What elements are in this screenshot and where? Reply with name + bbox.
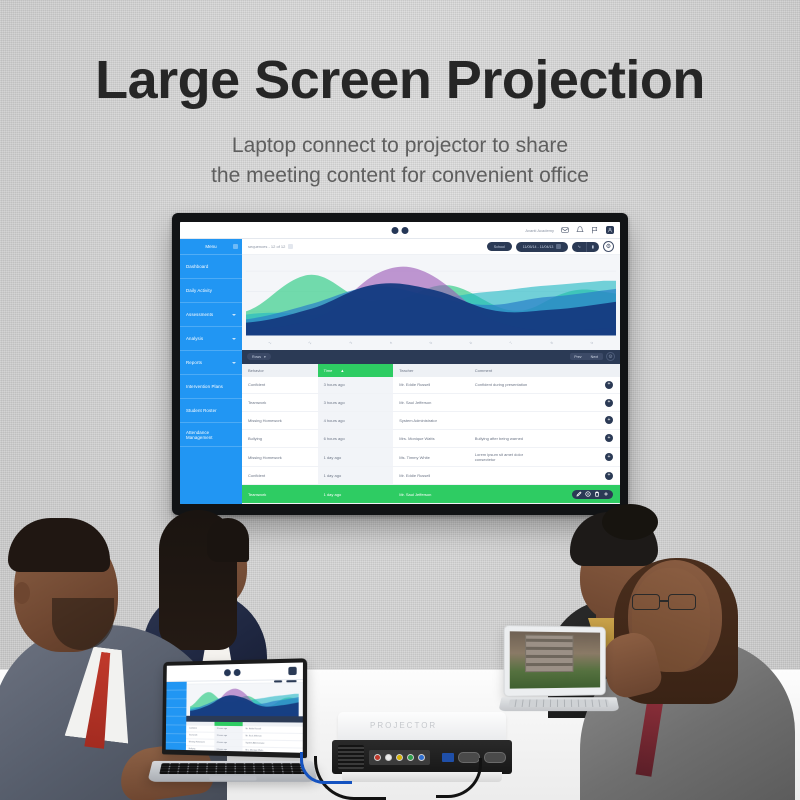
sidebar-header: Menu [180, 239, 242, 255]
cell-behavior: Teamwork [242, 394, 318, 412]
cell-actions: + [544, 394, 620, 412]
user-icon[interactable] [606, 226, 614, 234]
cell-actions: + [544, 377, 620, 394]
table-row[interactable]: Confident 1 day ago Mr. Eddie Russell + [242, 467, 620, 485]
cell-teacher: Mrs. Monique Watts [242, 747, 272, 753]
table-row[interactable]: Bullying 6 hours ago Mrs. Monique Watts … [242, 429, 620, 447]
cell-teacher: Mr. Eddie Russell [393, 467, 469, 485]
dashboard-body: Menu Dashboard Daily Activity Assessment… [180, 239, 620, 504]
table-row-selected[interactable]: Teamwork 1 day ago Mr. Saul Jefferson [242, 485, 620, 504]
lens-right [668, 594, 696, 610]
column-header-behavior[interactable]: Behavior [242, 364, 318, 377]
chevron-down-icon [232, 362, 236, 364]
sidebar-item [166, 708, 186, 717]
table-body: Confident3 hours agoMr. Eddie Russell Te… [186, 726, 303, 753]
date-range-picker[interactable]: 11/05/14 - 11/04/13 [516, 242, 569, 252]
laptop-base [147, 761, 317, 782]
x-tick-label: 8 [549, 341, 553, 345]
cell-teacher: Mr. Saul Jefferson [393, 485, 469, 504]
close-icon[interactable] [288, 244, 293, 249]
x-tick-label: 4 [389, 341, 393, 345]
building-photo [525, 635, 574, 673]
sidebar-item [166, 717, 186, 726]
cell-behavior: Confident [242, 467, 318, 485]
cell-behavior: Missing Homework [242, 447, 318, 467]
sidebar-item-dashboard[interactable]: Dashboard [180, 255, 242, 279]
cell-time: 4 hours ago [318, 412, 394, 430]
rca-white-port[interactable] [385, 754, 392, 761]
gear-icon[interactable]: ⚙ [606, 352, 615, 361]
cell-actions: + [544, 412, 620, 430]
laptop-lid [504, 625, 606, 697]
laptop-left: Confident3 hours agoMr. Eddie Russell Te… [150, 660, 315, 788]
app-topbar: Avanti Academy [180, 222, 620, 239]
cell-behavior: Missing Homework [242, 412, 318, 430]
cell-teacher: Mr. Saul Jefferson [393, 394, 469, 412]
dashboard-body: Confident3 hours agoMr. Eddie Russell Te… [166, 680, 303, 753]
dashboard-mirror: Confident3 hours agoMr. Eddie Russell Te… [166, 662, 303, 752]
trackpad[interactable] [209, 776, 256, 781]
cell-teacher: Ms. Timmy White [393, 447, 469, 467]
next-page-button[interactable]: Next [587, 353, 603, 360]
plus-circle-icon[interactable]: + [605, 453, 613, 461]
gear-icon[interactable]: ⚙ [603, 241, 614, 252]
cell-teacher: Mrs. Monique Watts [393, 429, 469, 447]
sort-ascending-icon: ▲ [340, 368, 344, 373]
cell-comment [469, 467, 545, 485]
area-chart [186, 683, 303, 716]
cell-behavior: Bullying [242, 429, 318, 447]
cell-time: 3 hours ago [318, 394, 394, 412]
table-header: Behavior Time▲ Teacher Comment [242, 364, 620, 377]
chart-type-toggle[interactable]: ∿ ▮ [572, 242, 599, 252]
plus-circle-icon[interactable]: + [605, 434, 613, 442]
subtitle-line-2: the meeting content for convenient offic… [0, 161, 800, 191]
hair-bun [602, 504, 658, 540]
scope-filter-label: School [494, 245, 505, 249]
laptop-lid: Confident3 hours agoMr. Eddie Russell Te… [162, 658, 307, 758]
sidebar-item-analysis[interactable]: Analysis [180, 327, 242, 351]
table-row[interactable]: Missing Homework 4 hours ago System Admi… [242, 412, 620, 430]
cell-comment [272, 747, 303, 752]
sidebar-item-intervention-plans[interactable]: Intervention Plans [180, 375, 242, 399]
hero-headline: Large Screen Projection Laptop connect t… [0, 0, 800, 210]
behavior-table: Behavior Time▲ Teacher Comment [242, 364, 620, 504]
table-row[interactable]: Confident 3 hours ago Mr. Eddie Russell … [242, 377, 620, 394]
trash-icon[interactable] [594, 491, 600, 497]
flag-icon[interactable] [591, 226, 599, 234]
column-header-actions [544, 364, 620, 377]
cell-behavior: Teamwork [242, 485, 318, 504]
rca-yellow-port[interactable] [396, 754, 403, 761]
eyeglasses [632, 594, 704, 610]
app-logo [224, 668, 241, 675]
sidebar-title: Menu [205, 244, 216, 249]
laptop-screen-photo [510, 631, 600, 688]
column-label: Time [324, 368, 333, 373]
sidebar-item-reports[interactable]: Reports [180, 351, 242, 375]
keyboard[interactable] [508, 699, 609, 706]
table-row[interactable]: Teamwork 3 hours ago Mr. Saul Jefferson … [242, 394, 620, 412]
x-tick-label: 2 [308, 341, 312, 345]
table-row[interactable]: Missing Homework 1 day ago Ms. Timmy Whi… [242, 447, 620, 467]
bar-chart-icon[interactable]: ▮ [587, 242, 599, 252]
cell-time: 3 hours ago [318, 377, 394, 394]
main-content: sequences - 12 of 12 School 11/05/14 - 1… [242, 239, 620, 504]
row-action-toolbar [572, 490, 613, 499]
area-chart-svg [246, 255, 616, 336]
dashboard-app: Avanti Academy Menu [180, 222, 620, 504]
chevron-down-icon: ▾ [264, 355, 266, 359]
table-body: Confident 3 hours ago Mr. Eddie Russell … [242, 377, 620, 504]
scope-filter-button[interactable]: School [487, 242, 512, 251]
close-icon[interactable] [233, 244, 238, 249]
sidebar-item-assessments[interactable]: Assessments [180, 303, 242, 327]
user-icon [288, 667, 296, 675]
date-range-label: 11/05/14 - 11/04/13 [523, 245, 554, 249]
projector-top: PROJECTOR [338, 712, 506, 742]
cell-actions: + [544, 429, 620, 447]
breadcrumb-label: sequences - 12 of 12 [248, 244, 285, 249]
cell-time: 6 hours ago [318, 429, 394, 447]
x-tick-label: 5 [429, 341, 433, 345]
plus-circle-icon[interactable]: + [605, 381, 613, 389]
column-header-teacher[interactable]: Teacher [393, 364, 469, 377]
plus-icon[interactable] [603, 491, 609, 497]
rows-filter-dropdown[interactable]: Rows ▾ [247, 353, 271, 360]
prev-page-button[interactable]: Prev [570, 353, 586, 360]
cell-time: 1 day ago [318, 467, 394, 485]
app-logo [392, 227, 409, 234]
main-content: Confident3 hours agoMr. Eddie Russell Te… [186, 680, 303, 753]
chart-controls: School 11/05/14 - 11/04/13 ∿ ▮ ⚙ [487, 241, 614, 252]
cell-actions: + [544, 467, 620, 485]
breadcrumb[interactable]: sequences - 12 of 12 [248, 244, 293, 249]
x-tick-label: 6 [469, 341, 473, 345]
date-range-picker [286, 680, 296, 682]
vga-port-secondary[interactable] [484, 752, 506, 763]
calendar-icon [556, 244, 561, 249]
scope-filter-button [274, 680, 282, 682]
laptop-base [498, 697, 619, 711]
cell-actions: + [544, 447, 620, 467]
behavior-table: Confident3 hours agoMr. Eddie Russell Te… [186, 722, 303, 753]
projector-brand-label: PROJECTOR [370, 721, 437, 730]
breadcrumb-bar: sequences - 12 of 12 School 11/05/14 - 1… [242, 239, 620, 255]
sidebar-header [166, 682, 186, 691]
sidebar-item-label: Student Roster [186, 408, 217, 413]
rows-filter-label: Rows [252, 355, 261, 359]
sidebar-item-label: Dashboard [186, 264, 208, 269]
sidebar-nav [166, 682, 187, 750]
chart-controls [274, 680, 297, 682]
app-topbar [167, 662, 303, 682]
cell-comment [469, 412, 545, 430]
bell-icon[interactable] [576, 226, 584, 234]
sidebar-item-label: Analysis [186, 336, 203, 341]
pagination[interactable]: Prev Next [570, 353, 603, 360]
subtitle-line-1: Laptop connect to projector to share [0, 131, 800, 161]
sidebar-item-label: Assessments [186, 312, 213, 317]
sidebar-item-attendance-management[interactable]: Attendance Management [180, 423, 242, 447]
ear [14, 582, 30, 604]
minus-circle-icon[interactable] [585, 491, 591, 497]
cell-time: 1 day ago [318, 485, 394, 504]
cell-comment [469, 394, 545, 412]
rca-green-port[interactable] [407, 754, 414, 761]
chevron-down-icon [232, 338, 236, 340]
cell-row-tools [544, 485, 620, 504]
rca-blue-port[interactable] [418, 754, 425, 761]
page-subtitle: Laptop connect to projector to share the… [0, 131, 800, 192]
chart-x-axis: 1 2 3 4 5 6 7 8 9 [242, 336, 620, 350]
area-chart-svg [190, 683, 299, 716]
behavior-table-panel: Rows ▾ Prev Next ⚙ [242, 350, 620, 504]
wall-mounted-display: Avanti Academy Menu [172, 213, 628, 515]
sidebar-item-label: Reports [186, 360, 202, 365]
line-chart-icon[interactable]: ∿ [572, 242, 586, 252]
lens-left [632, 594, 660, 610]
edit-pencil-icon[interactable] [576, 491, 582, 497]
sidebar-item-label: Daily Activity [186, 288, 212, 293]
sidebar-item-student-roster[interactable]: Student Roster [180, 399, 242, 423]
behavior-table-panel: Confident3 hours agoMr. Eddie Russell Te… [186, 716, 303, 753]
sidebar-item-label: Attendance Management [186, 430, 236, 440]
cell-time: 1 day ago [318, 447, 394, 467]
chevron-down-icon [232, 314, 236, 316]
cell-comment: Lorem ipsum sit amet dolor consectetur [469, 447, 545, 467]
sidebar-item [166, 690, 186, 699]
cell-comment: Confident during presentation [469, 377, 545, 394]
sidebar-item [166, 725, 186, 734]
sidebar-item-daily-activity[interactable]: Daily Activity [180, 279, 242, 303]
plus-circle-icon[interactable]: + [605, 416, 613, 424]
area-chart [242, 255, 620, 336]
table-header-row: Behavior Time▲ Teacher Comment [242, 364, 620, 377]
mail-icon[interactable] [561, 226, 569, 234]
cell-teacher: System Administrator [393, 412, 469, 430]
plus-circle-icon[interactable]: + [605, 399, 613, 407]
cell-teacher: Mr. Eddie Russell [393, 377, 469, 394]
cell-behavior: Bullying [186, 746, 214, 753]
table-toolbar: Rows ▾ Prev Next ⚙ [242, 350, 620, 364]
laptop-right [500, 626, 618, 716]
x-tick-label: 3 [348, 341, 352, 345]
cell-comment: Bullying after being warned [469, 429, 545, 447]
cell-behavior: Confident [242, 377, 318, 394]
page-title: Large Screen Projection [0, 52, 800, 109]
account-label: Avanti Academy [525, 228, 554, 233]
bridge [660, 600, 668, 602]
sidebar-nav: Menu Dashboard Daily Activity Assessment… [180, 239, 242, 504]
x-tick-label: 7 [509, 341, 513, 345]
cell-time: 6 hours ago [214, 746, 243, 753]
x-tick-label: 1 [268, 341, 272, 345]
keyboard[interactable] [159, 763, 305, 774]
column-header-time[interactable]: Time▲ [318, 364, 394, 377]
column-header-comment[interactable]: Comment [469, 364, 545, 377]
projector: PROJECTOR [332, 712, 512, 792]
display-screen: Avanti Academy Menu [180, 222, 620, 504]
x-tick-label: 9 [590, 341, 594, 345]
sidebar-item [166, 734, 186, 743]
laptop-screen-dashboard: Confident3 hours agoMr. Eddie Russell Te… [166, 662, 303, 752]
plus-circle-icon[interactable]: + [605, 472, 613, 480]
sidebar-item [166, 699, 186, 708]
cell-comment [469, 485, 545, 504]
sidebar-item-label: Intervention Plans [186, 384, 223, 389]
